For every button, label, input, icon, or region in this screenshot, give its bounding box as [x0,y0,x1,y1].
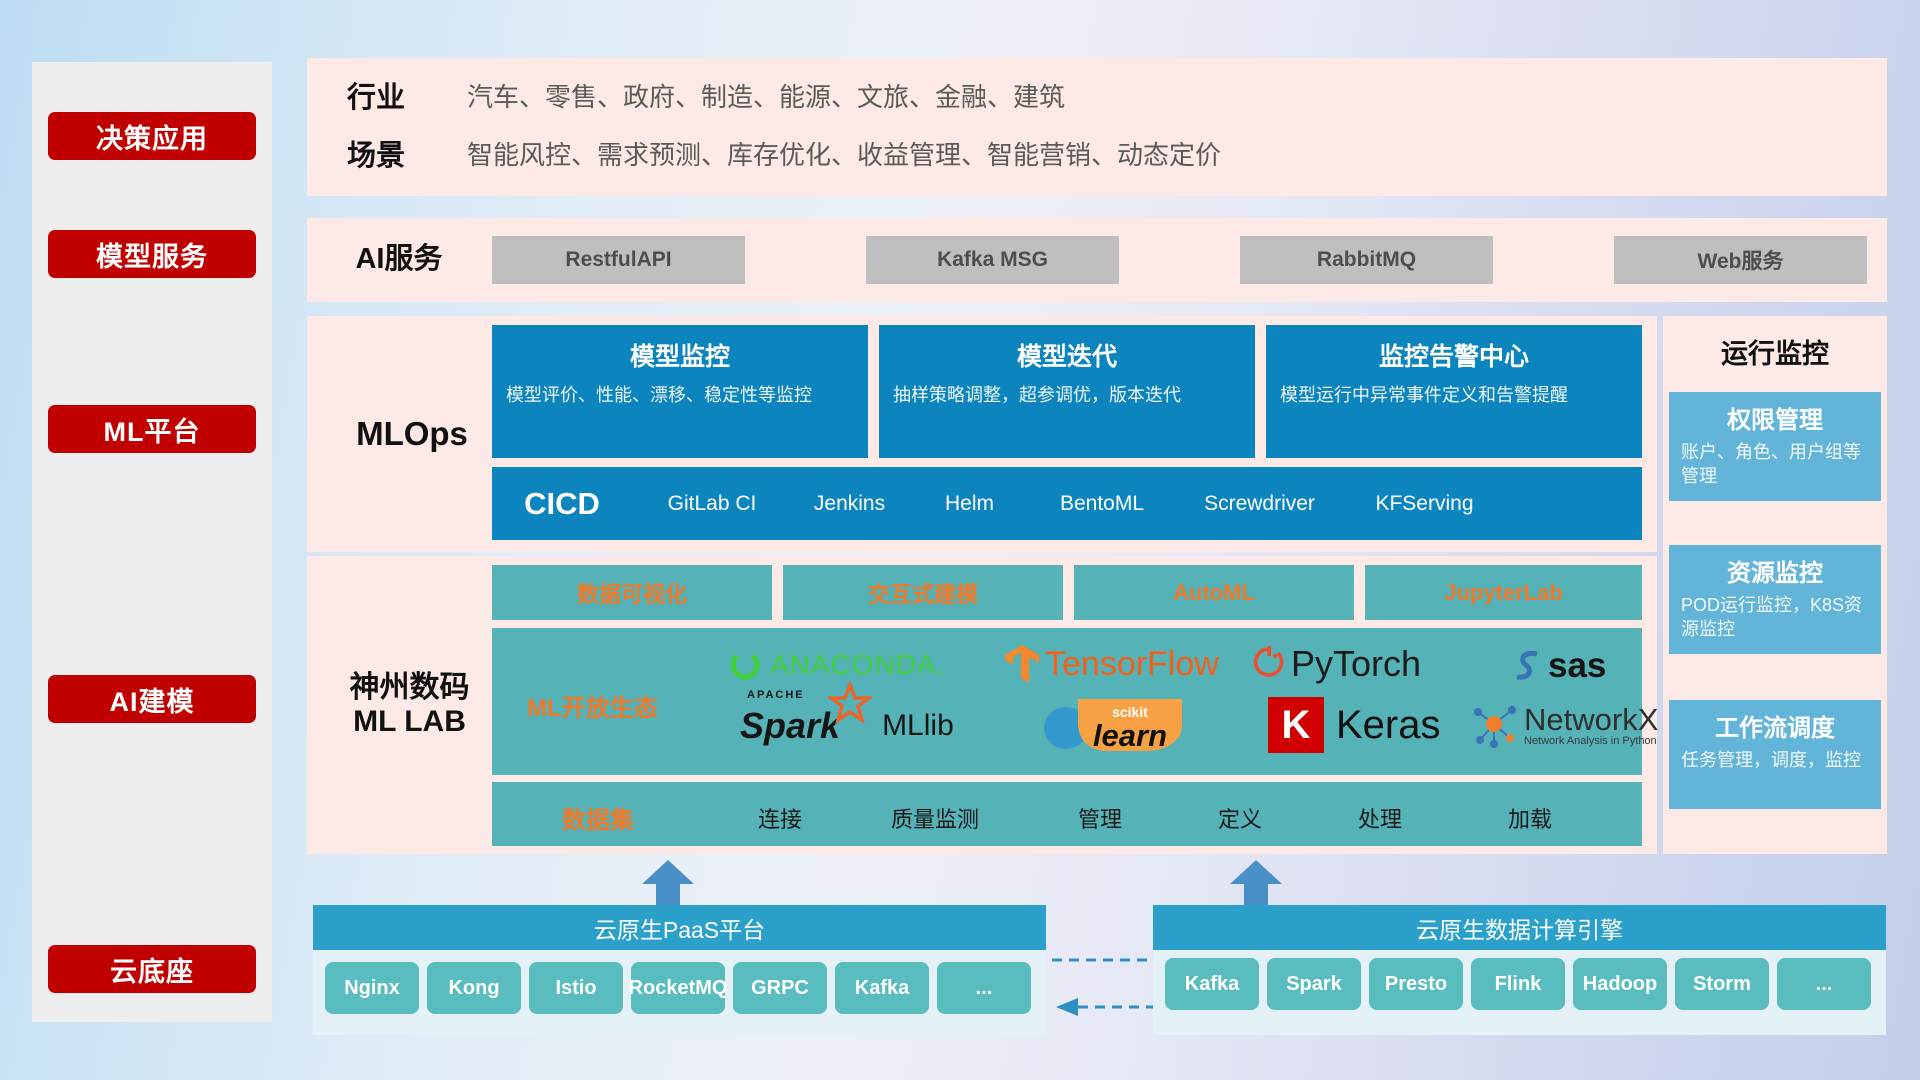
dataset-item-connect[interactable]: 连接 [725,802,835,834]
card-title: 资源监控 [1681,553,1869,588]
card-title: 权限管理 [1681,400,1869,435]
dataset-item-manage[interactable]: 管理 [1045,802,1155,834]
spark-apache-label: APACHE [747,689,805,701]
spark-star-icon [828,681,872,725]
chip-label: Web服务 [1698,245,1784,275]
card-desc: 模型评价、性能、漂移、稳定性等监控 [506,383,854,407]
ai-service-chip-web-service[interactable]: Web服务 [1614,236,1867,284]
cloud-chip-kong[interactable]: Kong [427,962,521,1014]
tensorflow-label: TensorFlow [1045,645,1219,684]
scikit-learn-logo: scikit learn [1040,700,1186,752]
cloud-chip-rocketmq[interactable]: RocketMQ [631,962,725,1014]
business-row-scenario: 场景 智能风控、需求预测、库存优化、收益管理、智能营销、动态定价 [347,132,1221,174]
diagram-canvas: 决策应用 模型服务 ML平台 AI建模 云底座 行业 汽车、零售、政府、制造、能… [0,0,1920,1080]
mlops-card-alert-center[interactable]: 监控告警中心 模型运行中异常事件定义和告警提醒 [1266,325,1642,458]
networkx-graph-icon [1470,700,1520,750]
chip-label: ... [1816,974,1833,995]
card-title: 模型监控 [506,337,854,373]
chip-label: Spark [1286,974,1342,995]
anaconda-label: ANACONDA. [770,649,945,681]
learn-label: learn [1074,720,1186,751]
ai-modeling-label-line2: ML LAB [353,705,466,740]
card-title: 监控告警中心 [1280,337,1628,373]
monitoring-card-resource[interactable]: 资源监控 POD运行监控，K8S资源监控 [1669,545,1881,654]
business-row-industry: 行业 汽车、零售、政府、制造、能源、文旅、金融、建筑 [347,74,1065,116]
modeling-tool-interactive-modeling[interactable]: 交互式建模 [783,565,1063,620]
business-row-key: 行业 [347,74,467,116]
chip-label: 交互式建模 [868,577,978,609]
cloud-chip-storm[interactable]: Storm [1675,958,1769,1010]
card-desc: 模型运行中异常事件定义和告警提醒 [1280,383,1628,407]
cloud-chip-kafka-right[interactable]: Kafka [1165,958,1259,1010]
card-desc: POD运行监控，K8S资源监控 [1681,594,1869,642]
chip-label: RabbitMQ [1317,248,1416,272]
cloud-paas-title: 云原生PaaS平台 [594,911,765,945]
dataset-item-quality-monitor[interactable]: 质量监测 [865,802,1005,834]
cloud-chip-presto[interactable]: Presto [1369,958,1463,1010]
cloud-chip-spark[interactable]: Spark [1267,958,1361,1010]
chip-label: Flink [1495,974,1542,995]
stage-chip-ml-platform[interactable]: ML平台 [48,405,256,453]
chip-label: Hadoop [1583,974,1657,995]
cicd-item-helm[interactable]: Helm [907,493,1032,514]
dataset-label: 数据集 [562,800,722,835]
cloud-chip-kafka-left[interactable]: Kafka [835,962,929,1014]
ai-service-chip-rabbitmq[interactable]: RabbitMQ [1240,236,1493,284]
cloud-compute-title: 云原生数据计算引擎 [1416,911,1623,945]
stage-chip-model-service[interactable]: 模型服务 [48,230,256,278]
chip-label: RestfulAPI [565,248,671,272]
monitoring-title: 运行监控 [1663,316,1887,371]
chip-label: 数据可视化 [577,577,687,609]
up-arrow-right-icon [1228,860,1284,908]
modeling-tool-data-visualization[interactable]: 数据可视化 [492,565,772,620]
cloud-chip-more-left[interactable]: ... [937,962,1031,1014]
business-panel: 行业 汽车、零售、政府、制造、能源、文旅、金融、建筑 场景 智能风控、需求预测、… [307,58,1887,196]
stage-chip-ai-modeling[interactable]: AI建模 [48,675,256,723]
stage-chip-label: AI建模 [110,680,195,719]
networkx-label: NetworkX [1524,704,1658,735]
ai-service-label: AI服务 [329,218,469,302]
cicd-bar: CICD GitLab CI Jenkins Helm BentoML Scre… [492,467,1642,540]
keras-mark-label: K [1282,703,1311,748]
ai-modeling-label-line1: 神州数码 [350,671,470,706]
stage-chip-decision[interactable]: 决策应用 [48,112,256,160]
monitoring-card-workflow[interactable]: 工作流调度 任务管理，调度，监控 [1669,700,1881,809]
mllib-label: MLlib [882,709,954,743]
chip-label: Nginx [344,978,400,999]
stage-chip-label: 云底座 [110,950,194,989]
ai-service-chip-kafka-msg[interactable]: Kafka MSG [866,236,1119,284]
business-row-value: 汽车、零售、政府、制造、能源、文旅、金融、建筑 [467,77,1065,114]
sas-label: sas [1548,646,1606,686]
dataset-item-process[interactable]: 处理 [1325,802,1435,834]
ai-modeling-label: 神州数码 ML LAB [317,556,502,854]
chip-label: ... [976,978,993,999]
cloud-chip-hadoop[interactable]: Hadoop [1573,958,1667,1010]
chip-label: Kafka MSG [937,248,1048,272]
card-desc: 任务管理，调度，监控 [1681,749,1869,773]
sas-icon [1513,648,1547,684]
cicd-title: CICD [492,486,632,522]
chip-label: Istio [555,978,596,999]
cloud-chip-flink[interactable]: Flink [1471,958,1565,1010]
cicd-item-screwdriver[interactable]: Screwdriver [1172,493,1347,514]
business-row-key: 场景 [347,132,467,174]
spark-label: Spark [740,705,840,746]
keras-logo: K Keras [1268,697,1441,753]
modeling-tool-jupyterlab[interactable]: JupyterLab [1365,565,1642,620]
cicd-item-jenkins[interactable]: Jenkins [792,493,907,514]
up-arrow-left-icon [640,860,696,908]
stage-chip-label: 决策应用 [96,117,208,156]
chip-label: Storm [1693,974,1751,995]
cloud-chip-nginx[interactable]: Nginx [325,962,419,1014]
anaconda-icon [728,648,762,682]
cloud-chip-more-right[interactable]: ... [1777,958,1871,1010]
card-title: 工作流调度 [1681,708,1869,743]
tensorflow-logo: TensorFlow [1003,643,1219,685]
sas-logo: sas [1513,646,1606,686]
stage-chip-label: ML平台 [104,410,201,449]
networkx-logo: NetworkX Network Analysis in Python [1470,700,1658,750]
chip-label: Kong [448,978,499,999]
mlops-label: MLOps [327,316,497,552]
chip-label: Presto [1385,974,1447,995]
chip-label: GRPC [751,978,809,999]
networkx-tagline: Network Analysis in Python [1524,735,1658,747]
dataset-item-load[interactable]: 加载 [1475,802,1585,834]
stage-chip-label: 模型服务 [96,235,208,274]
mlops-card-model-iteration[interactable]: 模型迭代 抽样策略调整，超参调优，版本迭代 [879,325,1255,458]
pytorch-label: PyTorch [1291,643,1421,685]
keras-label: Keras [1336,703,1441,748]
monitoring-card-permission[interactable]: 权限管理 账户、角色、用户组等管理 [1669,392,1881,501]
chip-label: RocketMQ [629,978,728,999]
cloud-chip-grpc[interactable]: GRPC [733,962,827,1014]
chip-label: Kafka [855,978,909,999]
cicd-item-bentoml[interactable]: BentoML [1032,493,1172,514]
pytorch-icon [1253,645,1285,683]
cloud-compute-header: 云原生数据计算引擎 [1153,905,1886,950]
keras-mark-icon: K [1268,697,1324,753]
cloud-paas-header: 云原生PaaS平台 [313,905,1046,950]
pytorch-logo: PyTorch [1253,643,1421,685]
stage-chip-cloud-base[interactable]: 云底座 [48,945,256,993]
ml-ecosystem-label: ML开放生态 [527,688,727,723]
card-title: 模型迭代 [893,337,1241,373]
modeling-tool-automl[interactable]: AutoML [1074,565,1354,620]
tensorflow-icon [1003,643,1041,685]
business-row-value: 智能风控、需求预测、库存优化、收益管理、智能营销、动态定价 [467,135,1221,172]
chip-label: Kafka [1185,974,1239,995]
chip-label: AutoML [1173,580,1255,606]
ai-service-chip-restfulapi[interactable]: RestfulAPI [492,236,745,284]
anaconda-logo: ANACONDA. [728,648,945,682]
cicd-item-gitlab-ci[interactable]: GitLab CI [632,493,792,514]
mlops-card-model-monitor[interactable]: 模型监控 模型评价、性能、漂移、稳定性等监控 [492,325,868,458]
card-desc: 账户、角色、用户组等管理 [1681,441,1869,489]
spark-mllib-logo: APACHE Spark MLlib [740,705,954,747]
stage-rail [32,62,272,1022]
cloud-chip-istio[interactable]: Istio [529,962,623,1014]
chip-label: JupyterLab [1444,580,1563,606]
cicd-item-kfserving[interactable]: KFServing [1347,493,1502,514]
dataset-item-define[interactable]: 定义 [1185,802,1295,834]
card-desc: 抽样策略调整，超参调优，版本迭代 [893,383,1241,407]
